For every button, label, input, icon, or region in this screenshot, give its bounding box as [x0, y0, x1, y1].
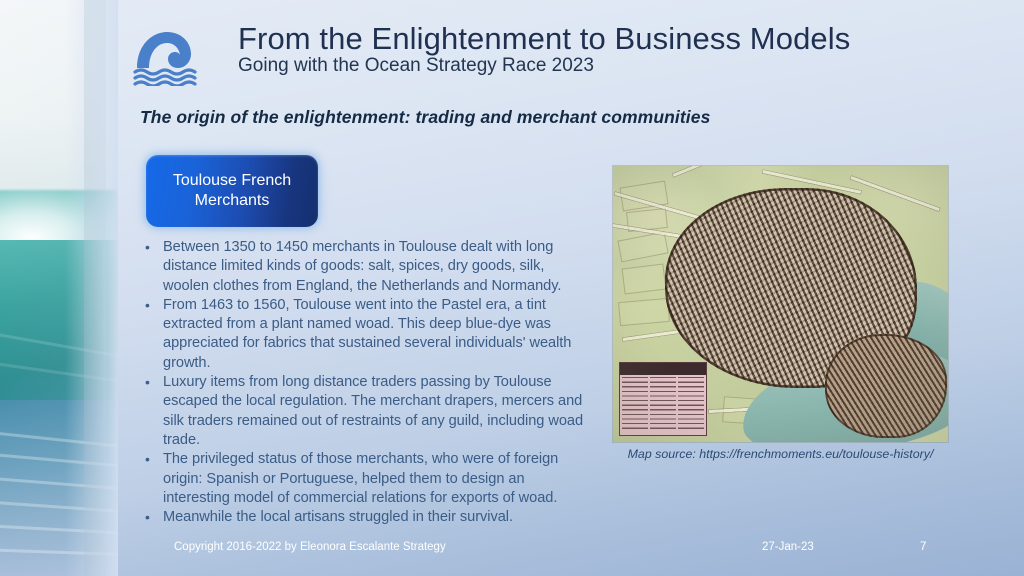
- ocean-wave-icon: [133, 28, 205, 86]
- list-item-text: From 1463 to 1560, Toulouse went into th…: [163, 296, 593, 373]
- ocean-fade-overlay: [0, 0, 118, 576]
- map-source-caption: Map source: https://frenchmoments.eu/tou…: [613, 447, 948, 461]
- bullet-marker-icon: •: [141, 508, 163, 527]
- bullet-list: • Between 1350 to 1450 merchants in Toul…: [141, 238, 593, 527]
- callout-label: Toulouse French Merchants: [146, 171, 318, 212]
- bullet-marker-icon: •: [141, 373, 163, 392]
- list-item: • From 1463 to 1560, Toulouse went into …: [141, 296, 593, 373]
- map-vignette: [613, 166, 948, 442]
- list-item-text: The privileged status of those merchants…: [163, 450, 593, 508]
- list-item: • Meanwhile the local artisans struggled…: [141, 508, 593, 527]
- bullet-marker-icon: •: [141, 238, 163, 257]
- slide-title: From the Enlightenment to Business Model…: [238, 22, 938, 55]
- ocean-wave-photo-strip: [0, 0, 118, 576]
- title-block: From the Enlightenment to Business Model…: [238, 22, 938, 77]
- list-item: • Luxury items from long distance trader…: [141, 373, 593, 450]
- bullet-marker-icon: •: [141, 450, 163, 469]
- footer-page-number: 7: [920, 541, 926, 553]
- list-item: • The privileged status of those merchan…: [141, 450, 593, 508]
- section-heading: The origin of the enlightenment: trading…: [140, 107, 710, 128]
- slide-subtitle: Going with the Ocean Strategy Race 2023: [238, 56, 938, 77]
- presentation-slide: From the Enlightenment to Business Model…: [0, 0, 1024, 576]
- callout-box-toulouse-french-merchants[interactable]: Toulouse French Merchants: [146, 155, 318, 227]
- list-item-text: Meanwhile the local artisans struggled i…: [163, 508, 593, 527]
- toulouse-historic-map-image: [613, 166, 948, 442]
- list-item-text: Luxury items from long distance traders …: [163, 373, 593, 450]
- footer-date: 27-Jan-23: [762, 541, 814, 553]
- map-canvas: [613, 166, 948, 442]
- list-item-text: Between 1350 to 1450 merchants in Toulou…: [163, 238, 593, 296]
- bullet-marker-icon: •: [141, 296, 163, 315]
- list-item: • Between 1350 to 1450 merchants in Toul…: [141, 238, 593, 296]
- footer-copyright: Copyright 2016-2022 by Eleonora Escalant…: [174, 541, 446, 553]
